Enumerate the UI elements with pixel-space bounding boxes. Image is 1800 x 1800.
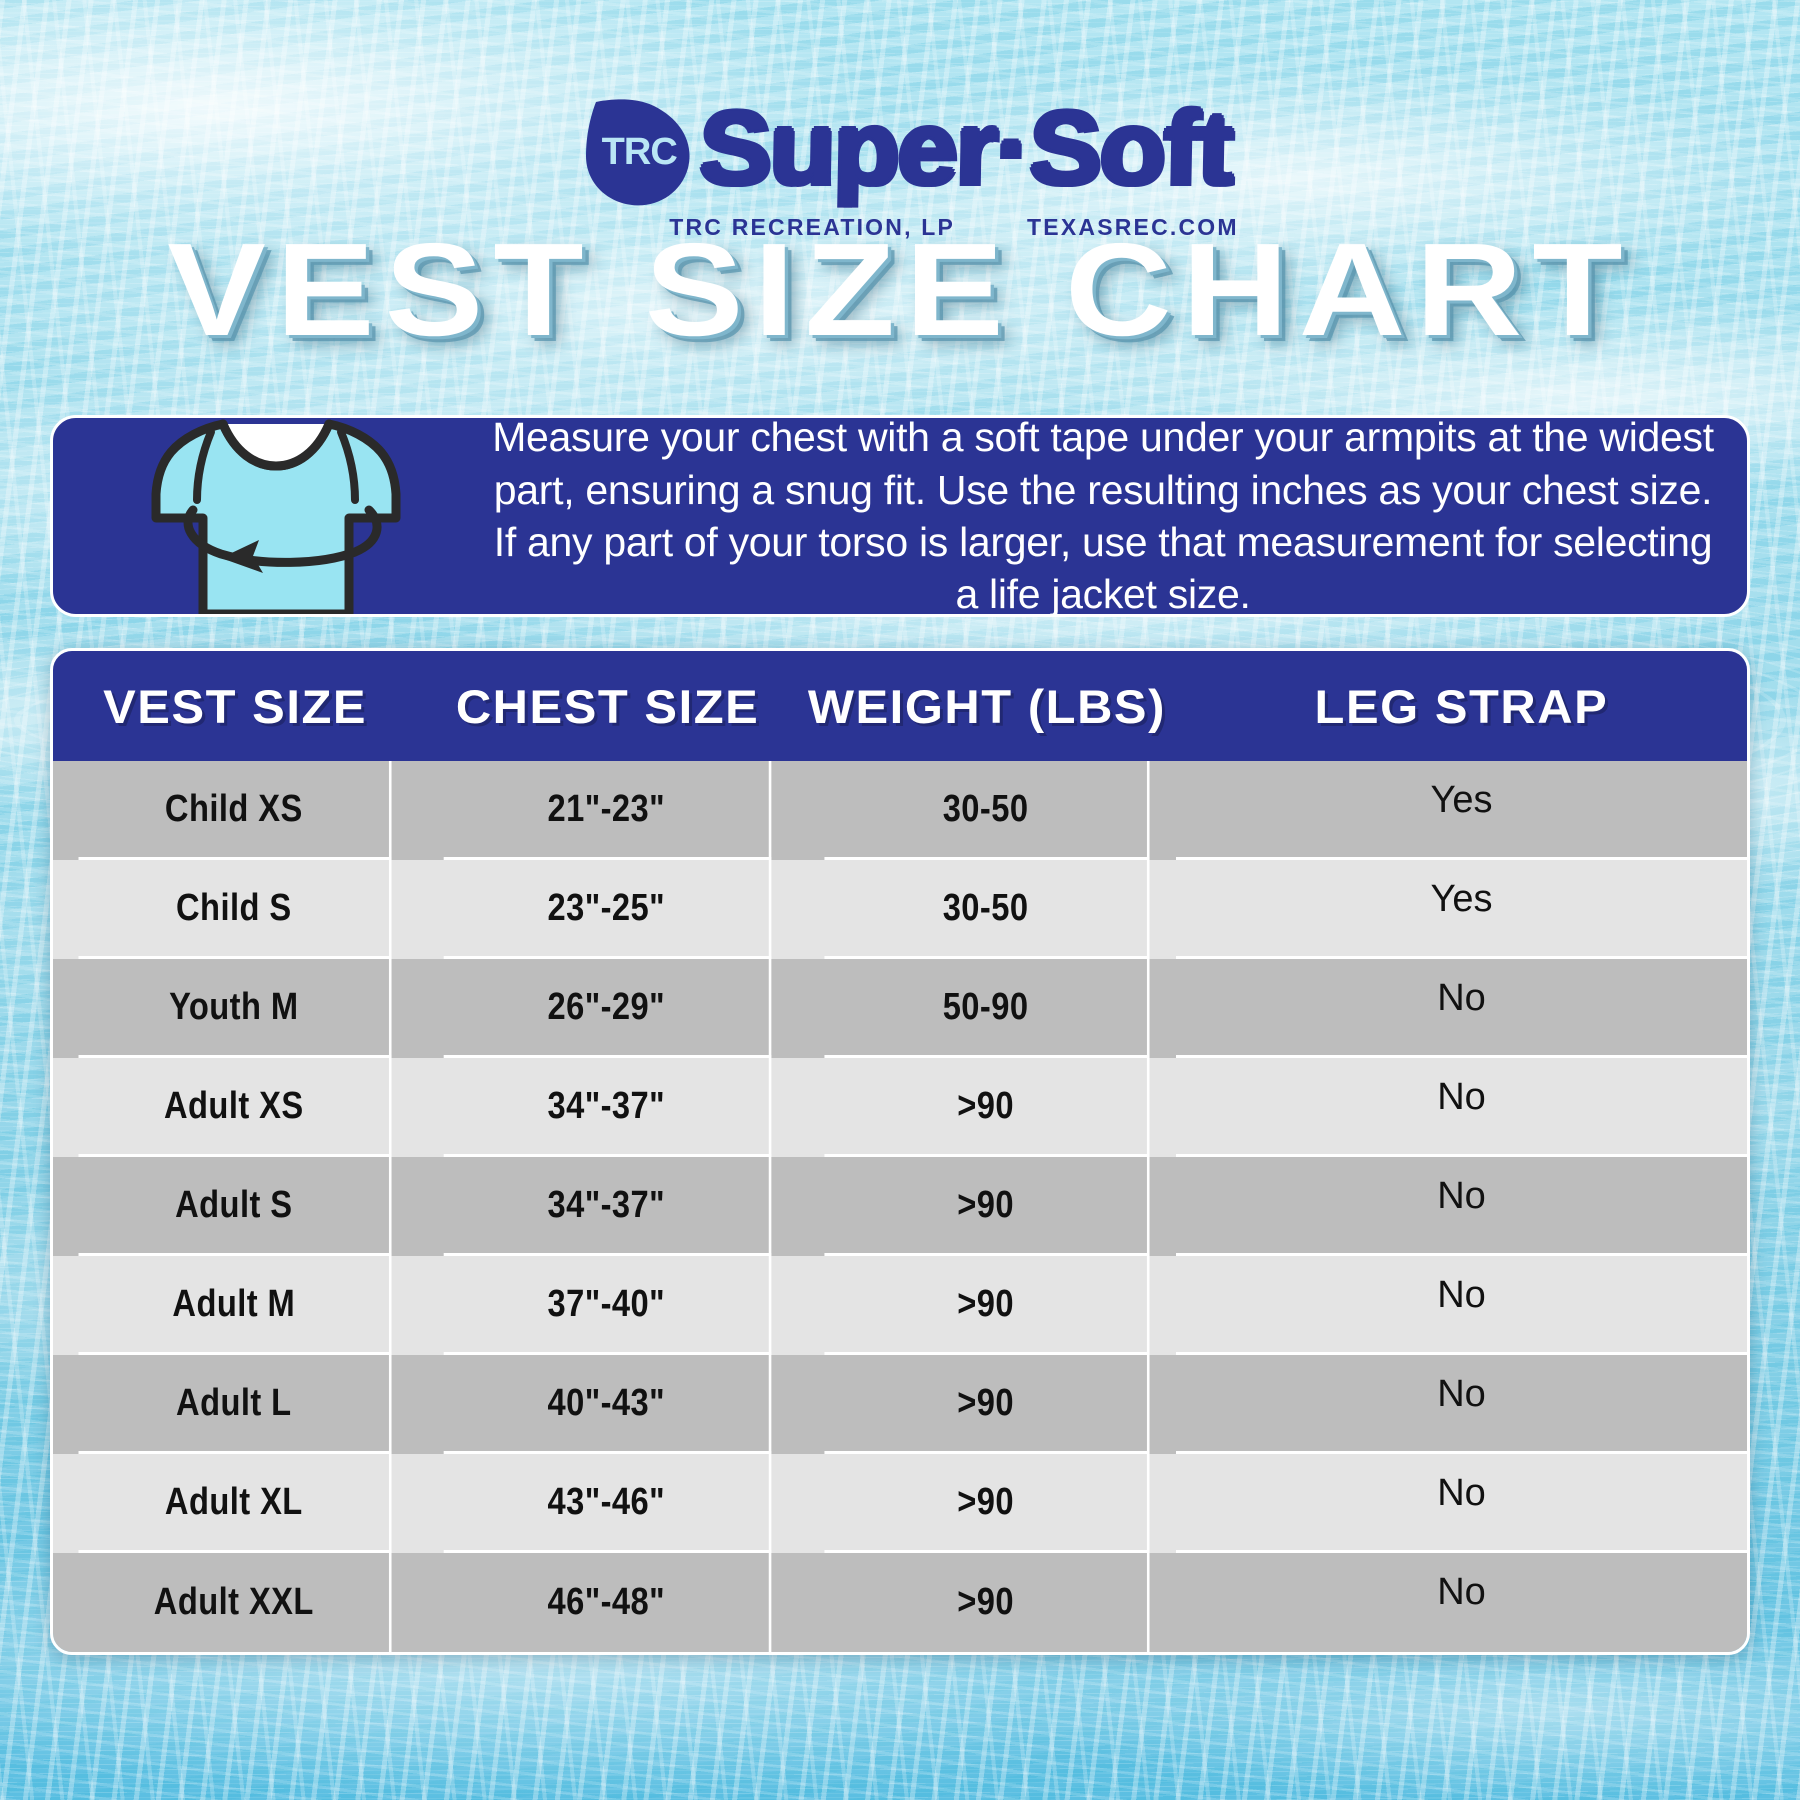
logo-row: TRC Super·Soft [578,88,1222,210]
cell-leg-strap: Yes [1176,860,1747,959]
cell-weight: 30-50 [825,860,1150,959]
page-title: VEST SIZE CHART [0,224,1800,356]
cell-chest-size: 34"-37" [444,1157,772,1256]
cell-chest-size: 43"-46" [444,1454,772,1553]
table-row: Child XS 21"-23" 30-50 Yes [53,761,1747,860]
cell-chest-size: 21"-23" [444,761,772,860]
cell-vest-size: Adult XL [78,1454,391,1553]
instruction-text: Measure your chest with a soft tape unde… [483,415,1723,617]
cell-vest-size: Adult L [78,1355,391,1454]
cell-leg-strap: No [1176,1454,1747,1553]
column-header-leg-strap: LEG STRAP [1165,679,1750,734]
cell-chest-size: 34"-37" [444,1058,772,1157]
cell-leg-strap: No [1176,959,1747,1058]
cell-weight: >90 [825,1157,1150,1256]
cell-weight: >90 [825,1454,1150,1553]
cell-weight: 50-90 [825,959,1150,1058]
cell-vest-size: Youth M [78,959,391,1058]
cell-leg-strap: No [1176,1355,1747,1454]
column-header-vest-size: VEST SIZE [50,679,424,734]
cell-vest-size: Adult S [78,1157,391,1256]
table-row: Adult S 34"-37" >90 No [53,1157,1747,1256]
cell-vest-size: Child XS [78,761,391,860]
cell-vest-size: Adult M [78,1256,391,1355]
cell-leg-strap: Yes [1176,761,1747,860]
trc-water-drop-icon: TRC [578,88,700,210]
trc-badge-label: TRC [578,131,700,174]
table-row: Child S 23"-25" 30-50 Yes [53,860,1747,959]
torso-tshirt-icon [111,418,441,614]
cell-chest-size: 26"-29" [444,959,772,1058]
cell-weight: >90 [825,1256,1150,1355]
table-row: Adult L 40"-43" >90 No [53,1355,1747,1454]
table-row: Youth M 26"-29" 50-90 No [53,959,1747,1058]
cell-weight: >90 [825,1058,1150,1157]
column-header-weight: WEIGHT (LBS) [791,679,1184,734]
cell-leg-strap: No [1176,1553,1747,1652]
table-row: Adult XL 43"-46" >90 No [53,1454,1747,1553]
vest-size-table: VEST SIZE CHEST SIZE WEIGHT (LBS) LEG ST… [50,648,1750,1655]
cell-weight: >90 [825,1355,1150,1454]
cell-chest-size: 46"-48" [444,1553,772,1652]
cell-weight: >90 [825,1553,1150,1652]
cell-leg-strap: No [1176,1058,1747,1157]
cell-leg-strap: No [1176,1157,1747,1256]
table-row: Adult M 37"-40" >90 No [53,1256,1747,1355]
cell-vest-size: Adult XXL [78,1553,391,1652]
instruction-banner: Measure your chest with a soft tape unde… [50,415,1750,617]
cell-chest-size: 37"-40" [444,1256,772,1355]
cell-vest-size: Child S [78,860,391,959]
cell-weight: 30-50 [825,761,1150,860]
cell-leg-strap: No [1176,1256,1747,1355]
table-row: Adult XS 34"-37" >90 No [53,1058,1747,1157]
table-header-row: VEST SIZE CHEST SIZE WEIGHT (LBS) LEG ST… [53,651,1747,761]
cell-chest-size: 23"-25" [444,860,772,959]
brand-wordmark: Super·Soft [699,99,1233,199]
column-header-chest-size: CHEST SIZE [410,679,806,734]
cell-chest-size: 40"-43" [444,1355,772,1454]
cell-vest-size: Adult XS [78,1058,391,1157]
table-row: Adult XXL 46"-48" >90 No [53,1553,1747,1652]
